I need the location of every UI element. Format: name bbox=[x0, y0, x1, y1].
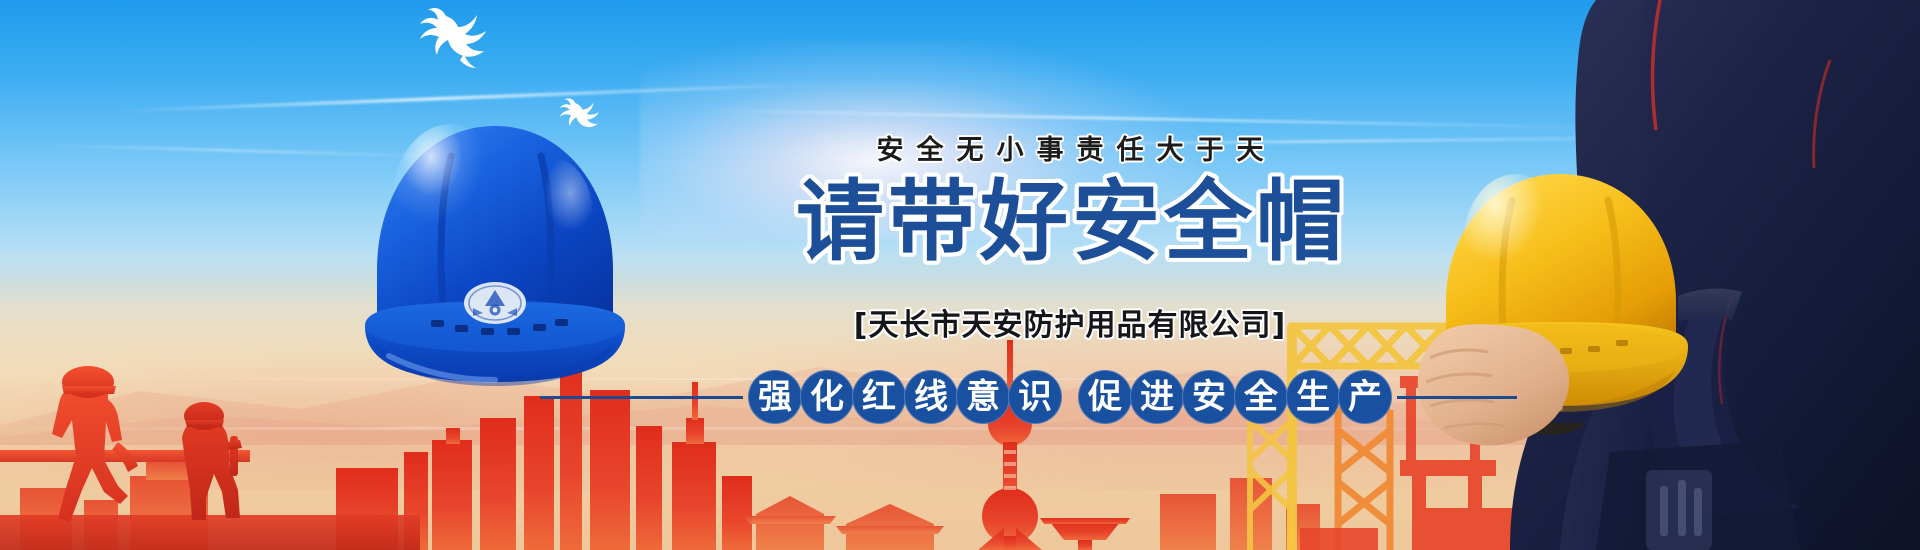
slogan-left: 强 化 红 线 意 识 bbox=[749, 370, 1061, 424]
slogan-chip: 意 bbox=[956, 370, 1010, 424]
worker-in-navy-uniform bbox=[1360, 0, 1920, 550]
slogan-chip: 进 bbox=[1130, 370, 1184, 424]
slogan-chip: 红 bbox=[852, 370, 906, 424]
slogan-chip: 促 bbox=[1078, 370, 1132, 424]
slogan-chip: 产 bbox=[1338, 370, 1392, 424]
worker-silhouette bbox=[182, 402, 242, 520]
dove-icon bbox=[408, 4, 500, 82]
slogan-chip: 安 bbox=[1182, 370, 1236, 424]
headline: 请带好安全帽 bbox=[700, 170, 1440, 274]
decor-rule bbox=[623, 396, 743, 399]
tagline: 安全无小事责任大于天 bbox=[700, 128, 1440, 167]
text-block: 安全无小事责任大于天 请带好安全帽 [天长市天安防护用品有限公司] 强 化 红 … bbox=[700, 0, 1440, 550]
slogan-chip: 全 bbox=[1234, 370, 1288, 424]
slogan-row: 强 化 红 线 意 识 促 进 安 全 生 产 bbox=[535, 362, 1605, 432]
helmet-brand-emblem bbox=[464, 282, 526, 324]
company-name: [天长市天安防护用品有限公司] bbox=[700, 300, 1440, 344]
slogan-right: 促 进 安 全 生 产 bbox=[1079, 370, 1391, 424]
slogan-gap bbox=[1061, 397, 1079, 398]
safety-banner: 安全无小事责任大于天 请带好安全帽 [天长市天安防护用品有限公司] 强 化 红 … bbox=[0, 0, 1920, 550]
slogan-chip: 线 bbox=[904, 370, 958, 424]
worker-silhouette bbox=[52, 366, 138, 522]
slogan-chip: 化 bbox=[800, 370, 854, 424]
slogan-chip: 生 bbox=[1286, 370, 1340, 424]
slogan-chip: 强 bbox=[748, 370, 802, 424]
slogan-chip: 识 bbox=[1008, 370, 1062, 424]
decor-rule bbox=[1397, 396, 1517, 399]
